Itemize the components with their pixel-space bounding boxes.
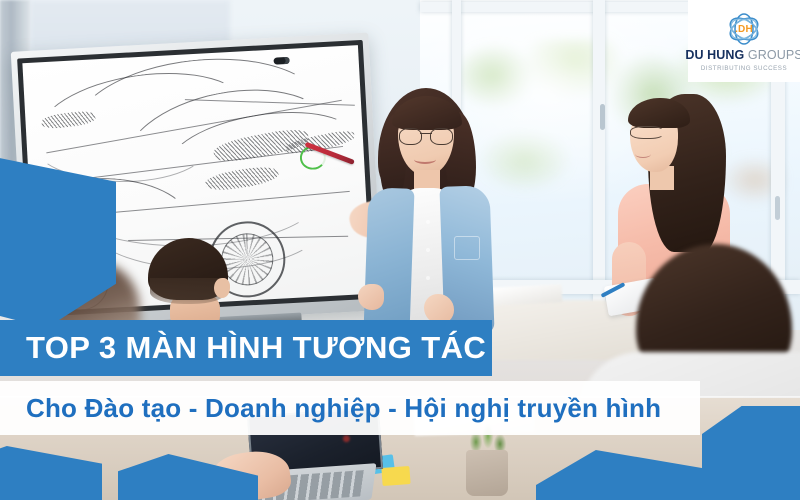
headline-text: TOP 3 MÀN HÌNH TƯƠNG TÁC xyxy=(26,330,486,366)
headline-banner: TOP 3 MÀN HÌNH TƯƠNG TÁC xyxy=(0,320,492,376)
plant-pot xyxy=(466,450,508,496)
window-handle-2 xyxy=(775,196,780,220)
subheadline-banner: Cho Đào tạo - Doanh nghiệp - Hội nghị tr… xyxy=(0,381,700,435)
logo-badge[interactable]: .DH DU HUNG GROUPS DISTRIBUTING SUCCESS xyxy=(688,0,800,82)
presenter-denim-left xyxy=(363,187,414,335)
presenter-glasses-bridge xyxy=(420,133,432,134)
logo-wordmark: DU HUNG GROUPS xyxy=(685,49,800,62)
marketing-banner: TOP 3 MÀN HÌNH TƯƠNG TÁC Cho Đào tạo - D… xyxy=(0,0,800,500)
subheadline-text: Cho Đào tạo - Doanh nghiệp - Hội nghị tr… xyxy=(26,393,661,424)
presenter-shirt-button xyxy=(426,276,430,280)
presenter-smile xyxy=(414,155,436,164)
back-book xyxy=(492,284,563,306)
display-camera-icon xyxy=(273,57,289,65)
presenter-shirt-pocket xyxy=(454,236,480,260)
presenter-shirt-button xyxy=(426,220,430,224)
woman-smile xyxy=(635,150,651,158)
presenter-hand-left xyxy=(358,284,384,310)
logo-tagline: DISTRIBUTING SUCCESS xyxy=(701,65,787,72)
logo-name-light: GROUPS xyxy=(744,48,800,62)
presenter-person xyxy=(362,88,492,330)
logo-mark-label: .DH xyxy=(724,12,764,46)
woman-glasses-icon xyxy=(630,126,664,139)
sticky-note-yellow xyxy=(381,466,410,486)
seated-man-ear xyxy=(214,278,230,298)
presenter-shirt-button xyxy=(426,248,430,252)
window-handle-1 xyxy=(600,104,605,130)
presenter-glasses-icon xyxy=(399,128,453,143)
atom-rings-icon: .DH xyxy=(724,12,764,46)
logo-name-bold: DU HUNG xyxy=(685,48,744,62)
